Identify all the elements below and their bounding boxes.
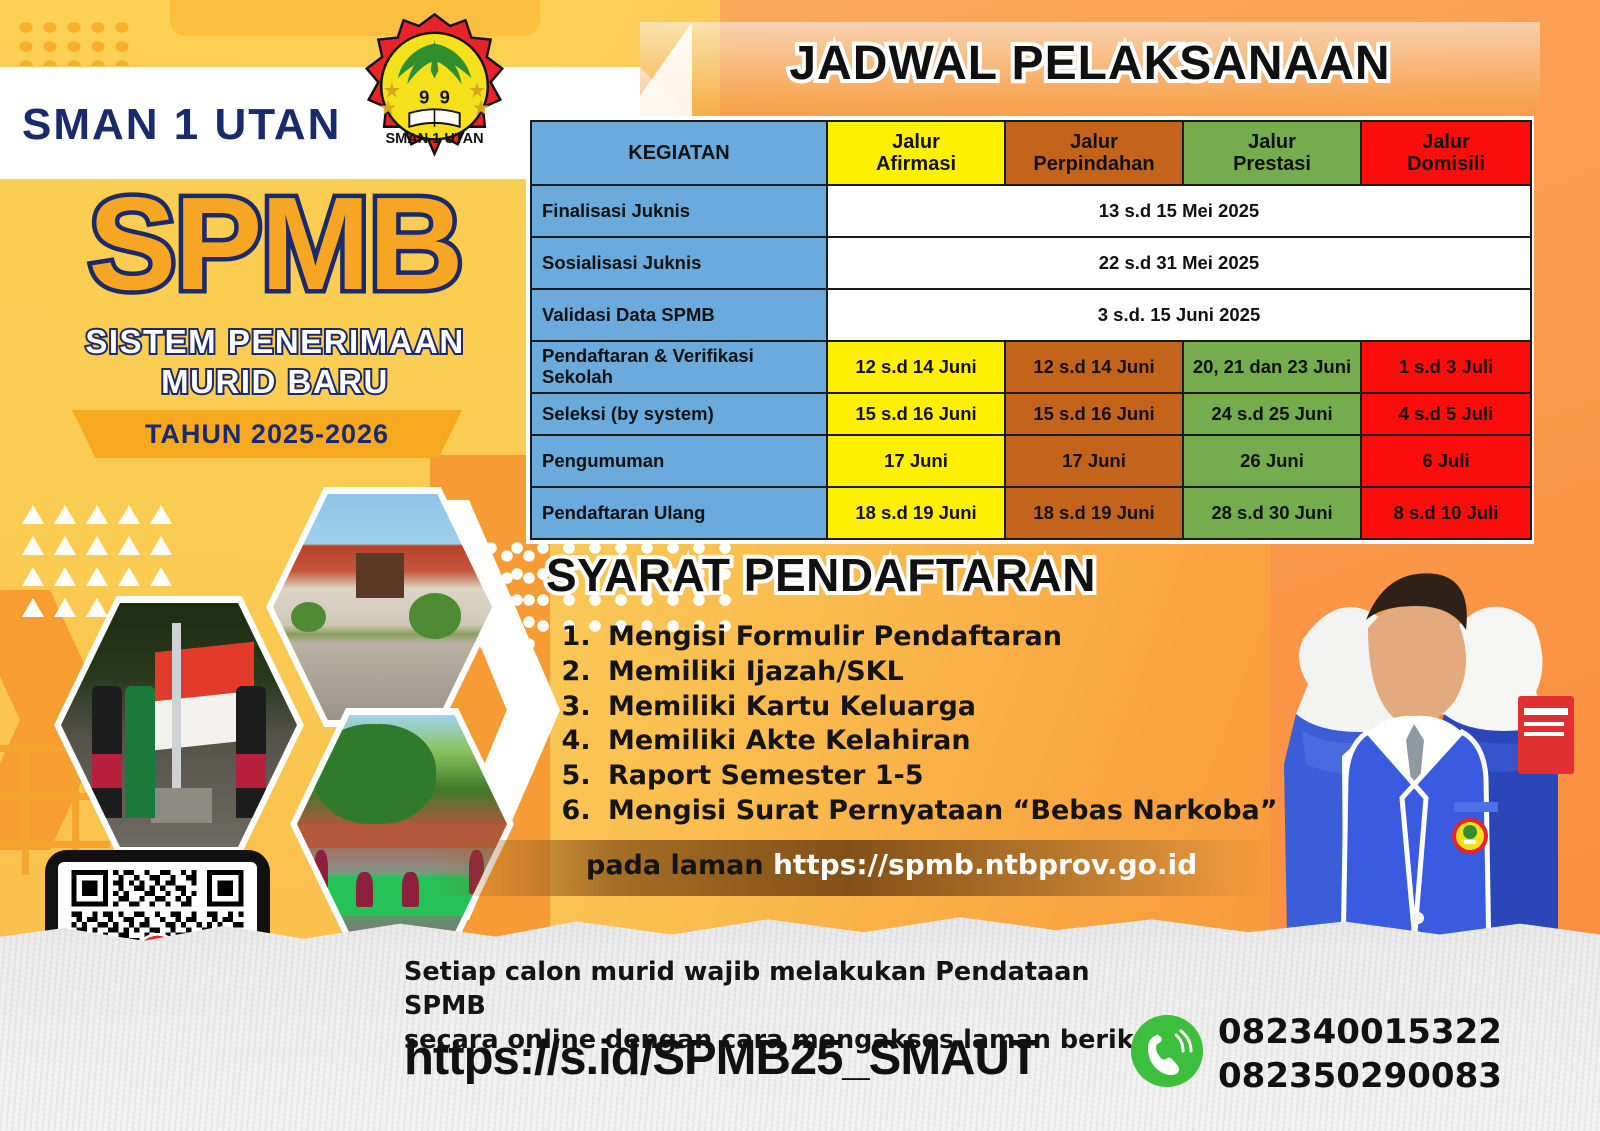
building-bush-right <box>409 593 462 638</box>
svg-text:9 9: 9 9 <box>419 87 450 108</box>
triangle-decor <box>54 598 76 617</box>
row-label-pendaftaran-verifikasi: Pendaftaran & Verifikasi Sekolah <box>531 341 827 393</box>
triangle-decor <box>54 505 76 524</box>
phone-call-icon <box>1131 1015 1203 1087</box>
list-item: Mengisi Surat Pernyataan “Bebas Narkoba” <box>600 794 1316 829</box>
cell-seleksi-domisili: 4 s.d 5 Juli <box>1361 393 1531 435</box>
table-row: Pengumuman 17 Juni 17 Juni 26 Juni 6 Jul… <box>531 435 1531 487</box>
triangle-decor <box>118 536 140 555</box>
cell-pengumuman-perpindahan: 17 Juni <box>1005 435 1183 487</box>
cell-pendaftaran-perpindahan: 12 s.d 14 Juni <box>1005 341 1183 393</box>
requirements-list: Mengisi Formulir Pendaftaran Memiliki Ij… <box>556 620 1316 829</box>
col-header-jalur-perpindahan: Jalur Perpindahan <box>1005 121 1183 185</box>
row-label-pendaftaran-ulang: Pendaftaran Ulang <box>531 487 827 539</box>
triangle-decor <box>54 567 76 586</box>
phone-number-1: 082340015322 <box>1218 1011 1502 1055</box>
cell-seleksi-perpindahan: 15 s.d 16 Juni <box>1005 393 1183 435</box>
ceremony-person-1-sarong <box>92 754 123 788</box>
dancer-1 <box>356 872 373 907</box>
list-item: Raport Semester 1-5 <box>600 759 1316 794</box>
col-header-jalur-domisili: Jalur Domisili <box>1361 121 1531 185</box>
triangle-decor <box>22 536 44 555</box>
spmb-portal-url[interactable]: https://spmb.ntbprov.go.id <box>773 848 1197 881</box>
row-value-validasi-data-spmb: 3 s.d. 15 Juni 2025 <box>827 289 1531 341</box>
table-row: Seleksi (by system) 15 s.d 16 Juni 15 s.… <box>531 393 1531 435</box>
triangle-decor <box>150 536 172 555</box>
flag-pole-base <box>151 788 212 822</box>
col-header-kegiatan: KEGIATAN <box>531 121 827 185</box>
year-ribbon-label: TAHUN 2025-2026 <box>72 419 462 450</box>
row-value-sosialisasi-juknis: 22 s.d 31 Mei 2025 <box>827 237 1531 289</box>
registration-short-url[interactable]: https://s.id/SPMB25_SMAUT <box>404 1030 1164 1086</box>
ceremony-person-3 <box>236 686 267 818</box>
row-label-seleksi: Seleksi (by system) <box>531 393 827 435</box>
cell-pendaftaran-prestasi: 20, 21 dan 23 Juni <box>1183 341 1361 393</box>
dancer-2 <box>402 872 419 907</box>
ceremony-person-2 <box>125 686 156 818</box>
school-crest-icon: 9 9 SMAN 1 UTAN <box>357 8 512 168</box>
row-value-finalisasi-juknis: 13 s.d 15 Mei 2025 <box>827 185 1531 237</box>
cell-pendaftaran-domisili: 1 s.d 3 Juli <box>1361 341 1531 393</box>
photo-school-building-image <box>273 494 492 720</box>
col-header-jalur-perpindahan-line1: Jalur <box>1070 131 1118 153</box>
triangle-decor <box>86 536 108 555</box>
col-header-jalur-prestasi: Jalur Prestasi <box>1183 121 1361 185</box>
building-door <box>356 553 404 598</box>
row-label-finalisasi-juknis: Finalisasi Juknis <box>531 185 827 237</box>
cell-pengumuman-domisili: 6 Juli <box>1361 435 1531 487</box>
photo-school-building-content <box>273 494 492 720</box>
spmb-subtitle-line1: SISTEM PENERIMAAN <box>40 322 510 362</box>
list-item: Mengisi Formulir Pendaftaran <box>600 620 1316 655</box>
footer-note-line1: Setiap calon murid wajib melakukan Penda… <box>404 955 1164 1023</box>
cell-daftar-ulang-perpindahan: 18 s.d 19 Juni <box>1005 487 1183 539</box>
schedule-table-wrapper: KEGIATAN Jalur Afirmasi Jalur Perpindaha… <box>526 116 1534 544</box>
triangle-decor <box>22 567 44 586</box>
laman-label: pada laman <box>586 850 764 881</box>
cell-seleksi-prestasi: 24 s.d 25 Juni <box>1183 393 1361 435</box>
laman-row: pada laman https://spmb.ntbprov.go.id <box>586 848 1197 881</box>
schedule-table: KEGIATAN Jalur Afirmasi Jalur Perpindaha… <box>530 120 1532 540</box>
crest-label: SMAN 1 UTAN <box>385 131 483 147</box>
requirements-heading: SYARAT PENDAFTARAN <box>546 548 1096 602</box>
triangle-decor <box>150 505 172 524</box>
cell-daftar-ulang-afirmasi: 18 s.d 19 Juni <box>827 487 1005 539</box>
photo-traditional-dance-image <box>297 715 507 933</box>
triangle-decor <box>86 505 108 524</box>
school-name: SMAN 1 UTAN <box>22 100 341 150</box>
triangle-decor <box>86 598 108 617</box>
ceremony-person-3-sarong <box>236 754 267 788</box>
spmb-subtitle-line2: MURID BARU <box>40 362 510 402</box>
photo-flag-ceremony-content <box>61 603 297 847</box>
col-header-jalur-prestasi-line1: Jalur <box>1248 131 1296 153</box>
schedule-header-row: KEGIATAN Jalur Afirmasi Jalur Perpindaha… <box>531 121 1531 185</box>
col-header-jalur-prestasi-line2: Prestasi <box>1233 153 1311 175</box>
building-bush-left <box>291 602 326 631</box>
contact-phone-numbers: 082340015322 082350290083 <box>1218 1011 1502 1098</box>
triangle-decor <box>118 505 140 524</box>
row-label-validasi-data-spmb: Validasi Data SPMB <box>531 289 827 341</box>
col-header-jalur-afirmasi: Jalur Afirmasi <box>827 121 1005 185</box>
dance-tree <box>314 724 436 824</box>
cell-seleksi-afirmasi: 15 s.d 16 Juni <box>827 393 1005 435</box>
list-item: Memiliki Akte Kelahiran <box>600 724 1316 759</box>
spmb-acronym: SPMB <box>55 178 495 310</box>
photo-flag-ceremony-image <box>61 603 297 847</box>
ceremony-person-1 <box>92 686 123 818</box>
spmb-subtitle: SISTEM PENERIMAAN MURID BARU <box>40 322 510 403</box>
triangle-decor <box>54 536 76 555</box>
triangle-decor <box>150 567 172 586</box>
table-row: Finalisasi Juknis 13 s.d 15 Mei 2025 <box>531 185 1531 237</box>
list-item: Memiliki Kartu Keluarga <box>600 690 1316 725</box>
cell-pendaftaran-afirmasi: 12 s.d 14 Juni <box>827 341 1005 393</box>
phone-number-2: 082350290083 <box>1218 1055 1502 1099</box>
col-header-jalur-afirmasi-line1: Jalur <box>892 131 940 153</box>
dots-pattern-top-left <box>14 18 134 66</box>
triangle-decor <box>86 567 108 586</box>
table-row: Pendaftaran & Verifikasi Sekolah 12 s.d … <box>531 341 1531 393</box>
col-header-jalur-domisili-line2: Domisili <box>1407 153 1485 175</box>
schedule-heading: JADWAL PELAKSANAAN <box>640 36 1540 91</box>
col-header-jalur-afirmasi-line2: Afirmasi <box>876 153 956 175</box>
photo-traditional-dance-content <box>297 715 507 933</box>
table-row: Validasi Data SPMB 3 s.d. 15 Juni 2025 <box>531 289 1531 341</box>
cell-pengumuman-prestasi: 26 Juni <box>1183 435 1361 487</box>
col-header-jalur-domisili-line1: Jalur <box>1422 131 1470 153</box>
col-header-jalur-perpindahan-line2: Perpindahan <box>1033 153 1154 175</box>
poster-canvas: SMAN 1 UTAN 9 9 SMAN 1 UTAN SP <box>0 0 1600 1131</box>
table-row: Sosialisasi Juknis 22 s.d 31 Mei 2025 <box>531 237 1531 289</box>
row-label-pengumuman: Pengumuman <box>531 435 827 487</box>
triangle-decor <box>22 505 44 524</box>
triangle-decor <box>22 598 44 617</box>
row-label-sosialisasi-juknis: Sosialisasi Juknis <box>531 237 827 289</box>
cell-pengumuman-afirmasi: 17 Juni <box>827 435 1005 487</box>
list-item: Memiliki Ijazah/SKL <box>600 655 1316 690</box>
triangle-decor <box>118 567 140 586</box>
